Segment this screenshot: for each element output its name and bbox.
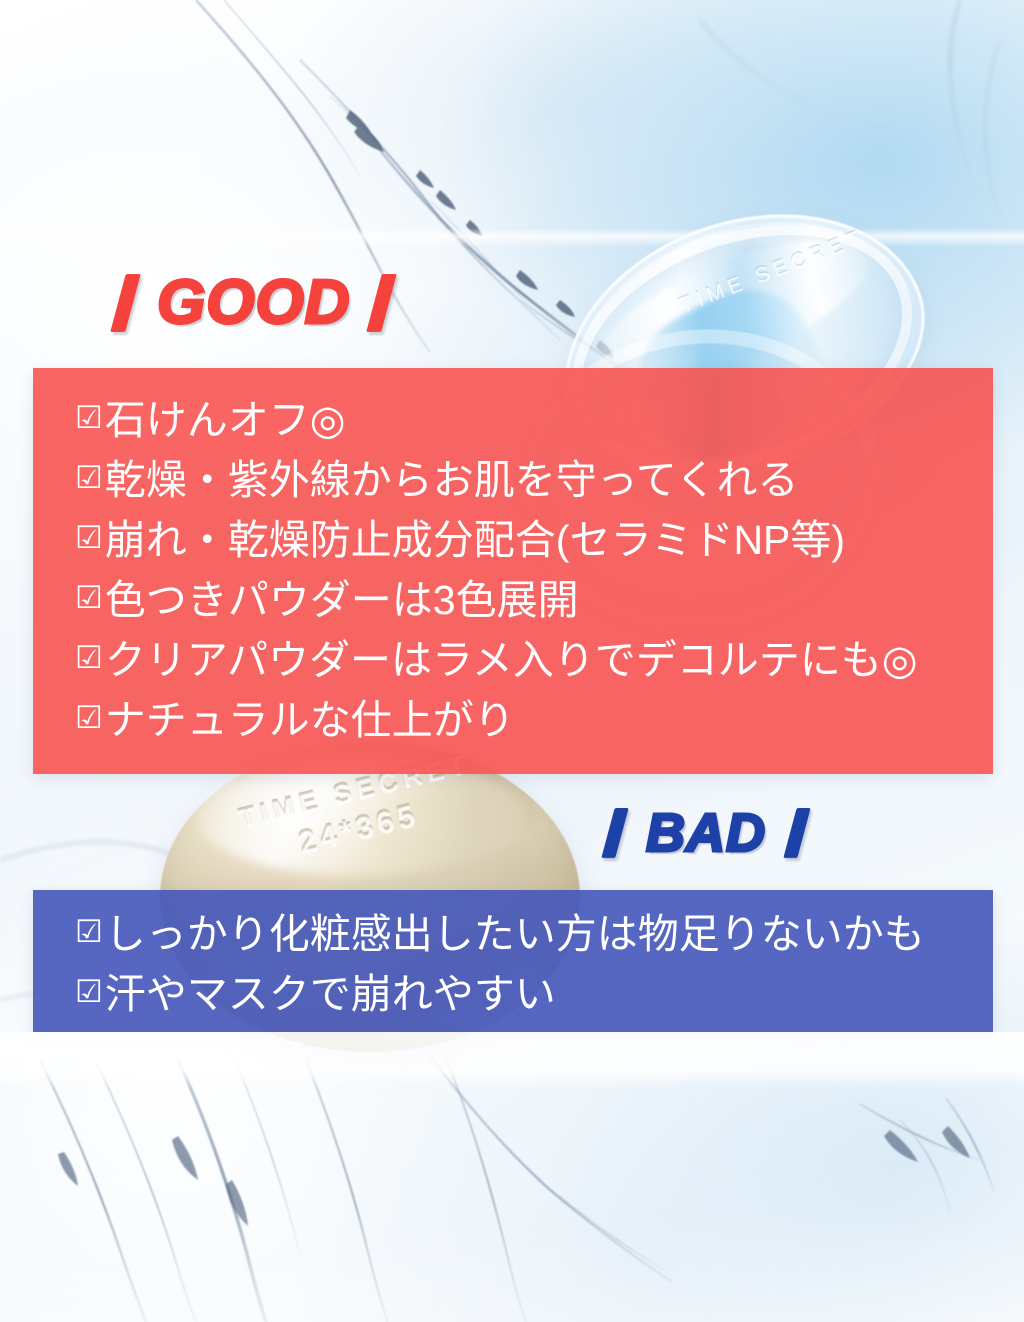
list-item: ☑ しっかり化粧感出したい方は物足りないかも [75, 904, 993, 964]
checkbox-checked-icon: ☑ [75, 403, 103, 434]
list-item-label: クリアパウダーはラメ入りでデコルテにも◎ [105, 630, 918, 690]
checkbox-checked-icon: ☑ [75, 917, 103, 948]
list-item-label: 乾燥・紫外線からお肌を守ってくれる [105, 450, 799, 510]
list-item: ☑ 崩れ・乾燥防止成分配合(セラミドNP等) [75, 510, 993, 570]
list-item: ☑ 石けんオフ◎ [75, 390, 993, 450]
checkbox-checked-icon: ☑ [75, 523, 103, 554]
list-item: ☑ ナチュラルな仕上がり [75, 690, 993, 750]
checkbox-checked-icon: ☑ [75, 463, 103, 494]
checkbox-checked-icon: ☑ [75, 703, 103, 734]
list-item-label: 石けんオフ◎ [105, 390, 346, 450]
good-heading-label: GOOD [157, 272, 350, 334]
list-item-label: 汗やマスクで崩れやすい [105, 964, 556, 1024]
review-infographic-page: TIME SECRET TIME SECRET 24*365 GOOD ☑ 石け… [0, 0, 1024, 1322]
good-list-band: ☑ 石けんオフ◎ ☑ 乾燥・紫外線からお肌を守ってくれる ☑ 崩れ・乾燥防止成分… [33, 368, 993, 774]
checkbox-checked-icon: ☑ [75, 643, 103, 674]
bad-heading: BAD [608, 806, 804, 860]
bad-list: ☑ しっかり化粧感出したい方は物足りないかも ☑ 汗やマスクで崩れやすい [75, 904, 993, 1024]
list-item-label: ナチュラルな仕上がり [105, 690, 515, 750]
good-list: ☑ 石けんオフ◎ ☑ 乾燥・紫外線からお肌を守ってくれる ☑ 崩れ・乾燥防止成分… [75, 390, 993, 750]
list-item-label: 崩れ・乾燥防止成分配合(セラミドNP等) [105, 510, 845, 570]
list-item: ☑ 色つきパウダーは3色展開 [75, 570, 993, 630]
good-heading: GOOD [118, 272, 389, 334]
bad-heading-label: BAD [646, 806, 766, 860]
list-item: ☑ 乾燥・紫外線からお肌を守ってくれる [75, 450, 993, 510]
bad-list-band: ☑ しっかり化粧感出したい方は物足りないかも ☑ 汗やマスクで崩れやすい [33, 890, 993, 1032]
checkbox-checked-icon: ☑ [75, 977, 103, 1008]
list-item: ☑ クリアパウダーはラメ入りでデコルテにも◎ [75, 630, 993, 690]
checkbox-checked-icon: ☑ [75, 583, 103, 614]
list-item-label: 色つきパウダーは3色展開 [105, 570, 579, 630]
list-item-label: しっかり化粧感出したい方は物足りないかも [105, 904, 925, 964]
list-item: ☑ 汗やマスクで崩れやすい [75, 964, 993, 1024]
